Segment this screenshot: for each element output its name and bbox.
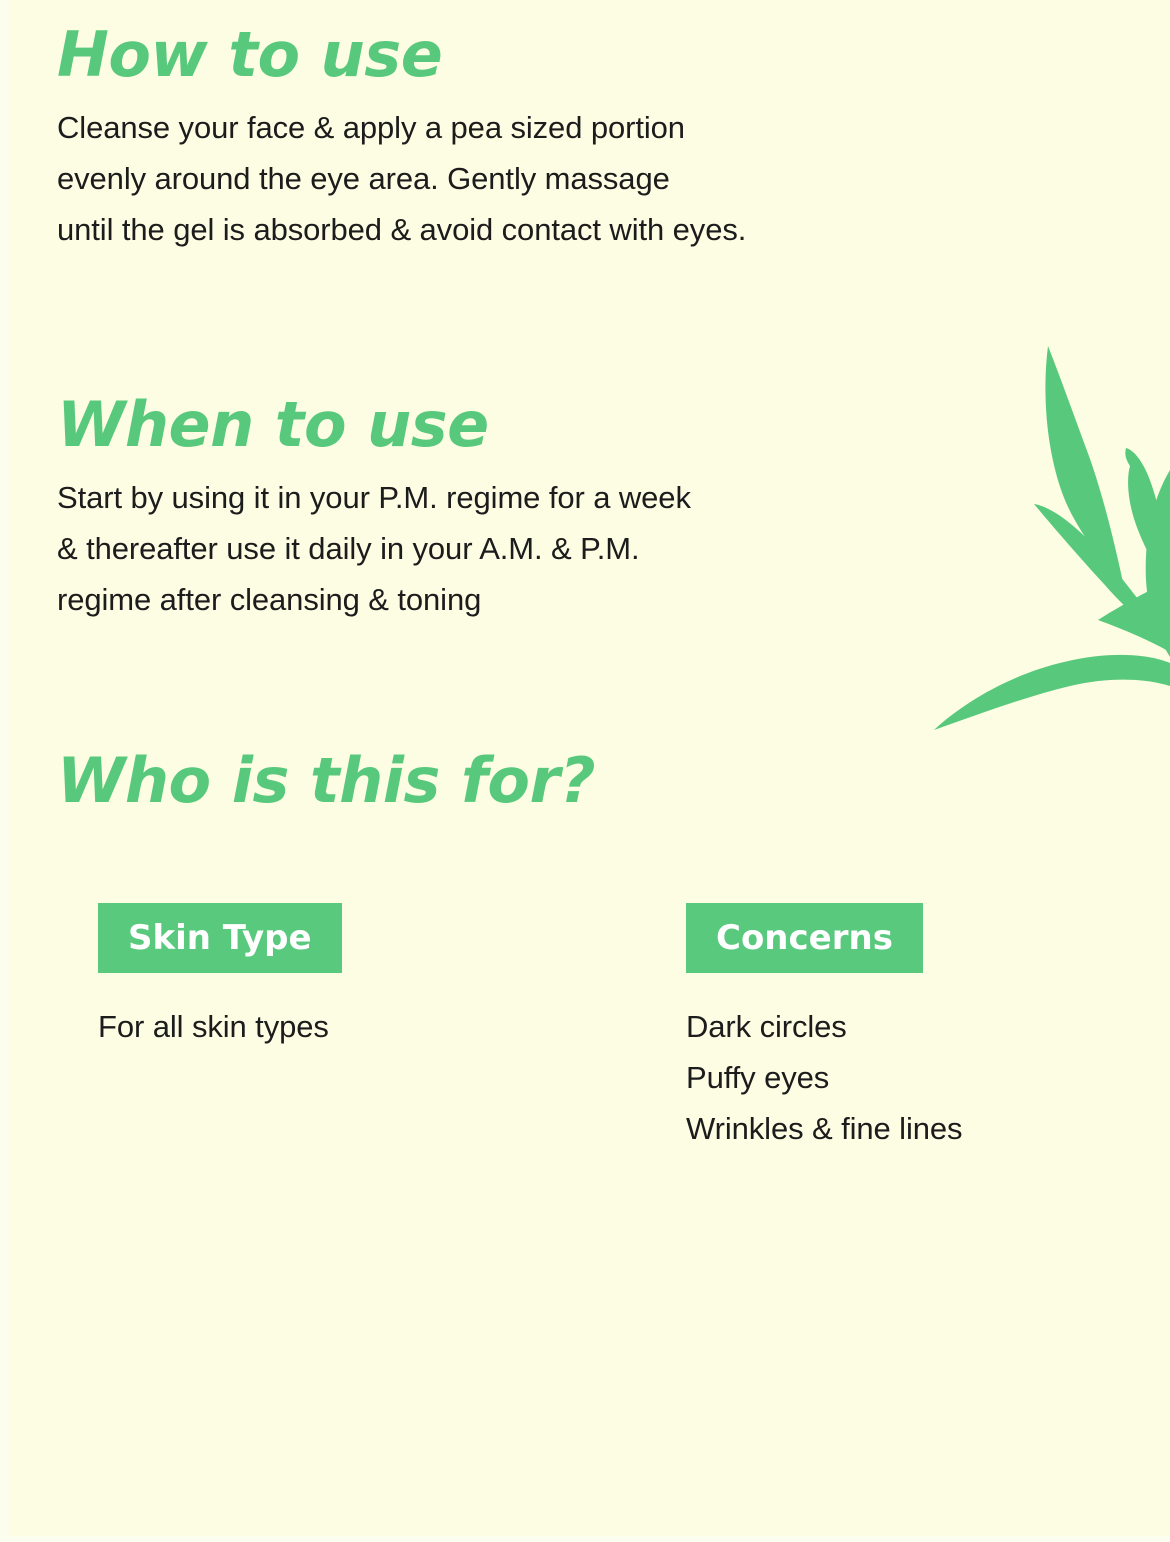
section-heading-when-to-use: When to use <box>57 392 691 458</box>
list-item: Puffy eyes <box>686 1052 962 1103</box>
list-item: Dark circles <box>686 1001 962 1052</box>
section-heading-who-is-this-for: Who is this for? <box>57 748 595 814</box>
info-card-page: How to use Cleanse your face & apply a p… <box>0 0 1170 1542</box>
badge-skin-type: Skin Type <box>98 903 342 973</box>
list-item: For all skin types <box>98 1001 342 1052</box>
section-heading-how-to-use: How to use <box>57 22 746 88</box>
section-when-to-use: When to use Start by using it in your P.… <box>57 392 691 625</box>
audience-column-skin-type: Skin Type For all skin types <box>98 903 342 1052</box>
section-body-when-to-use: Start by using it in your P.M. regime fo… <box>57 472 691 625</box>
audience-column-concerns: Concerns Dark circles Puffy eyes Wrinkle… <box>686 903 962 1154</box>
page-edge-strip-bottom <box>0 1536 1170 1542</box>
section-body-how-to-use: Cleanse your face & apply a pea sized po… <box>57 102 746 255</box>
audience-columns: Skin Type For all skin types Concerns Da… <box>0 903 1170 1263</box>
list-item: Wrinkles & fine lines <box>686 1103 962 1154</box>
skin-type-list: For all skin types <box>98 1001 342 1052</box>
leaf-cluster-icon <box>920 330 1170 750</box>
page-edge-strip-left <box>0 0 9 1542</box>
section-who-is-this-for: Who is this for? <box>57 748 595 828</box>
concerns-list: Dark circles Puffy eyes Wrinkles & fine … <box>686 1001 962 1154</box>
section-how-to-use: How to use Cleanse your face & apply a p… <box>57 22 746 255</box>
badge-concerns: Concerns <box>686 903 923 973</box>
